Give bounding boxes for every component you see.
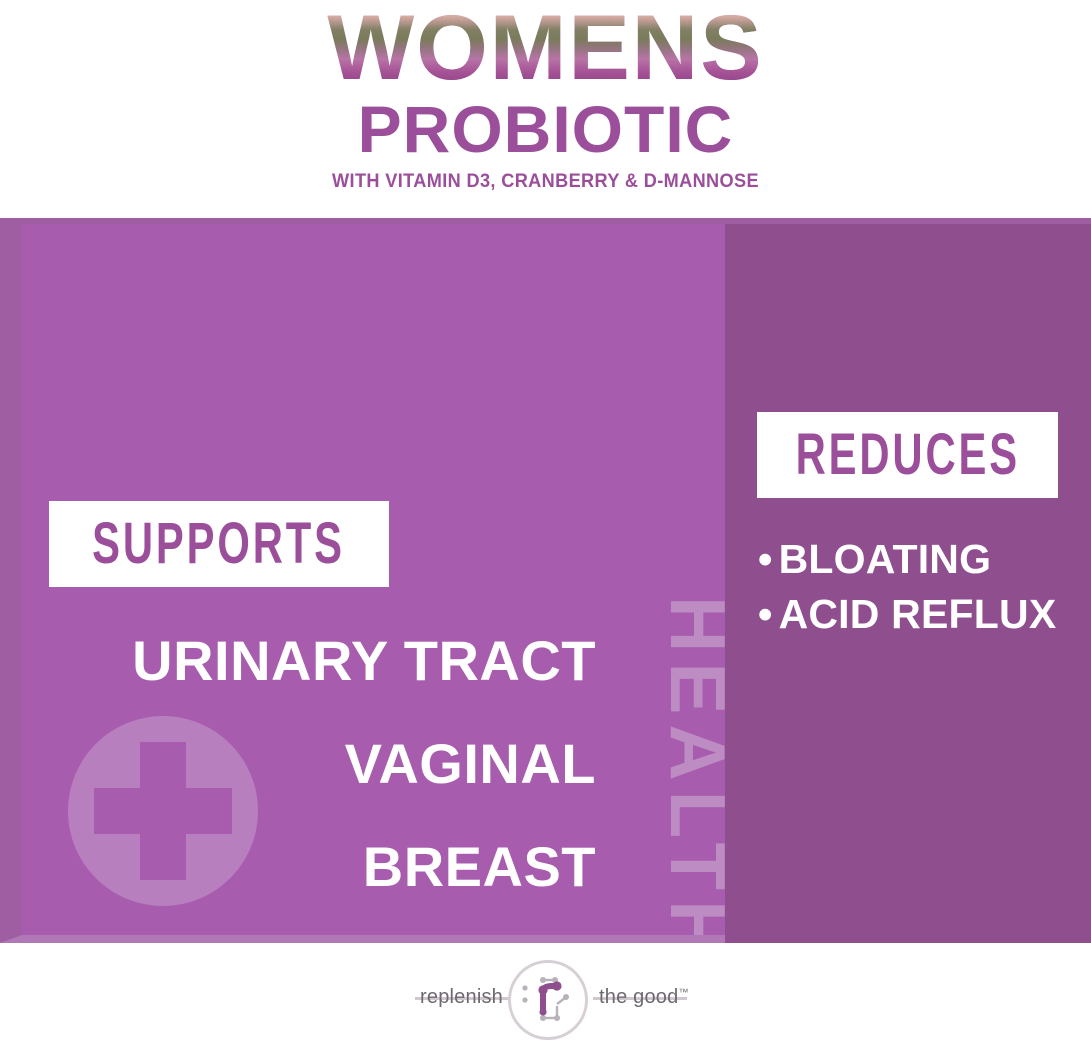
- brand-tagline: WITH VITAMIN D3, CRANBERRY & D-MANNOSE: [38, 170, 1053, 193]
- supports-heading-box: SUPPORTS: [49, 501, 389, 587]
- list-item: •BLOATING: [758, 532, 1091, 587]
- list-item-label: BLOATING: [779, 536, 992, 582]
- list-item-label: ACID REFLUX: [779, 591, 1057, 637]
- benefits-panel: HEALTH SUPPORTS URINARY TRACT VAGINAL BR…: [0, 218, 1091, 943]
- supports-list: URINARY TRACT VAGINAL BREAST DIGESTIVE: [22, 609, 596, 943]
- list-item: BREAST: [22, 815, 596, 918]
- reduces-heading-label: REDUCES: [795, 426, 1019, 484]
- list-item: VAGINAL: [22, 712, 596, 815]
- trademark-symbol: ™: [678, 987, 688, 998]
- supports-panel: HEALTH SUPPORTS URINARY TRACT VAGINAL BR…: [0, 224, 725, 943]
- vertical-health-watermark: HEALTH: [663, 596, 725, 943]
- list-item: DIGESTIVE: [22, 918, 596, 943]
- header-brand-block: WOMENS PROBIOTIC WITH VITAMIN D3, CRANBE…: [0, 0, 1091, 214]
- logo-text-right-label: the good: [599, 986, 678, 1008]
- brand-title-womens: WOMENS: [327, 2, 763, 94]
- list-item: •ACID REFLUX: [758, 587, 1091, 642]
- reduces-list: •BLOATING •ACID REFLUX: [758, 532, 1091, 642]
- bullet-icon: •: [758, 536, 773, 582]
- logo-text-right: the good™: [599, 986, 699, 1009]
- brand-footer-logo: replenish the good™: [411, 960, 691, 1040]
- logo-text-left: replenish: [415, 986, 503, 1009]
- reduces-panel: REDUCES •BLOATING •ACID REFLUX: [725, 224, 1091, 943]
- supports-heading-label: SUPPORTS: [93, 515, 346, 573]
- molecule-r-icon: [521, 974, 577, 1026]
- list-item: URINARY TRACT: [22, 609, 596, 712]
- brand-title-probiotic: PROBIOTIC: [0, 96, 1091, 162]
- brand-line1-wrap: WOMENS: [0, 2, 1091, 94]
- reduces-heading-box: REDUCES: [757, 412, 1058, 498]
- bullet-icon: •: [758, 591, 773, 637]
